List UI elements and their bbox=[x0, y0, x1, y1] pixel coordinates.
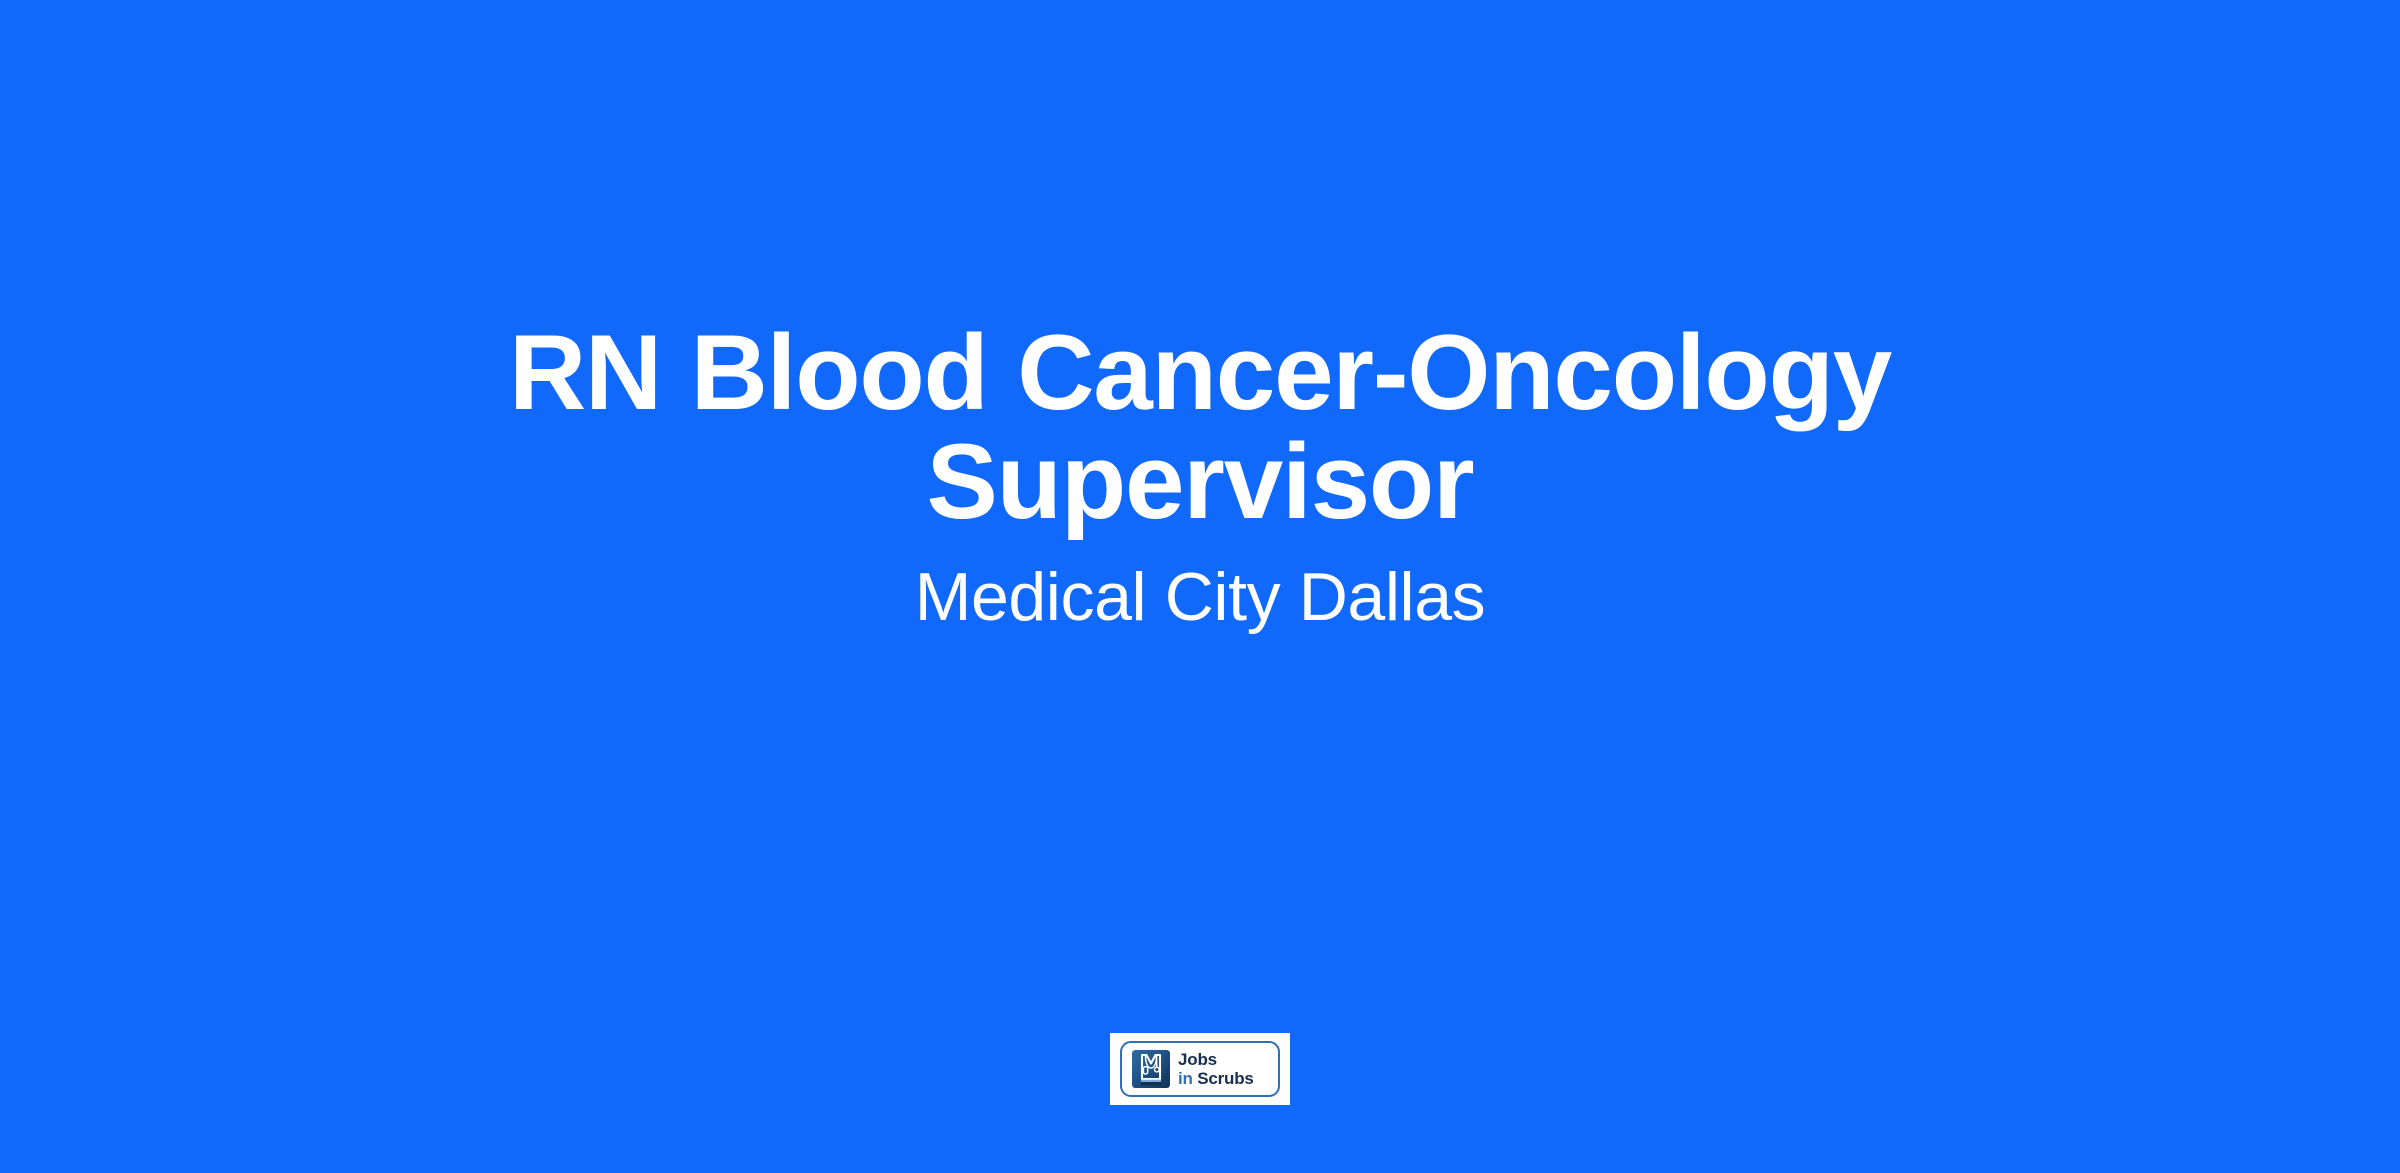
brand-wordmark-scrubs: Scrubs bbox=[1197, 1069, 1253, 1088]
brand-logo-card[interactable]: Jobs in Scrubs bbox=[1110, 1033, 1290, 1105]
job-posting-slide: RN Blood Cancer-Oncology Supervisor Medi… bbox=[0, 0, 2400, 1173]
brand-wordmark: Jobs in Scrubs bbox=[1178, 1051, 1254, 1087]
employer-name: Medical City Dallas bbox=[390, 536, 2010, 635]
page-title: RN Blood Cancer-Oncology Supervisor bbox=[390, 318, 2010, 536]
brand-wordmark-line-1: Jobs bbox=[1178, 1051, 1254, 1068]
brand-logo-frame: Jobs in Scrubs bbox=[1120, 1041, 1280, 1097]
scrubs-stethoscope-icon bbox=[1132, 1050, 1170, 1088]
hero-text-block: RN Blood Cancer-Oncology Supervisor Medi… bbox=[0, 0, 2400, 1173]
brand-wordmark-in: in bbox=[1178, 1069, 1193, 1088]
brand-wordmark-line-2: in Scrubs bbox=[1178, 1070, 1254, 1087]
